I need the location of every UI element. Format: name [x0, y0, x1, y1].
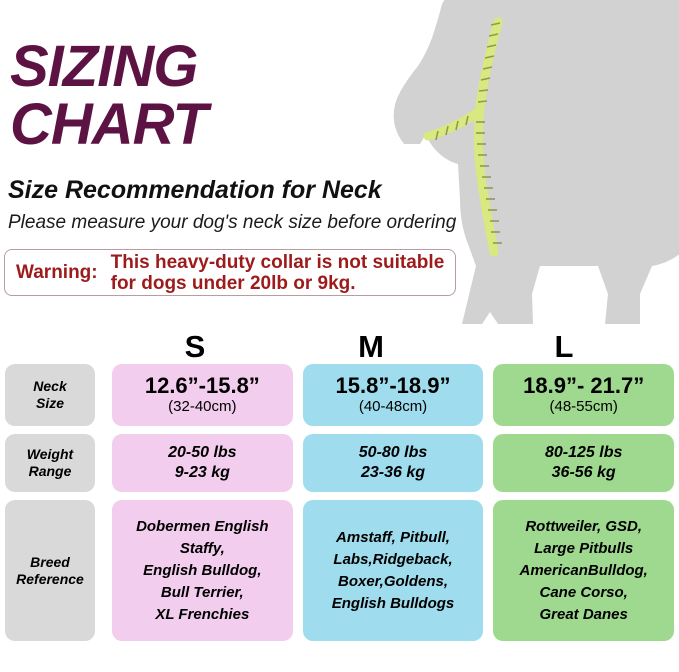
breed-line: Staffy, — [180, 538, 225, 560]
neck-size-cell-l: 18.9”- 21.7” (48-55cm) — [493, 364, 674, 426]
size-header-l: L — [464, 330, 664, 364]
row-label-line-2: Reference — [16, 571, 84, 588]
breed-line: AmericanBulldog, — [520, 560, 648, 582]
table-row: Breed Reference Dobermen English Staffy,… — [0, 500, 679, 641]
page-title: SIZING CHART — [10, 38, 430, 154]
weight-lbs-s: 20-50 lbs — [168, 443, 236, 463]
neck-size-inches-l: 18.9”- 21.7” — [523, 374, 644, 398]
row-label-line-2: Range — [29, 463, 72, 480]
breed-line: Rottweiler, GSD, — [525, 516, 642, 538]
subtitle: Size Recommendation for Neck — [8, 176, 382, 204]
breed-reference-cell-l: Rottweiler, GSD, Large Pitbulls American… — [493, 500, 674, 641]
size-header-s: S — [112, 330, 278, 364]
breed-line: Great Danes — [539, 604, 627, 626]
neck-size-inches-m: 15.8”-18.9” — [336, 374, 451, 398]
title-line-1: SIZING — [10, 38, 430, 96]
breed-line: English Bulldogs — [332, 593, 455, 615]
weight-lbs-l: 80-125 lbs — [545, 443, 622, 463]
breed-line: XL Frenchies — [155, 604, 249, 626]
neck-size-cm-m: (40-48cm) — [359, 398, 427, 416]
title-line-2: CHART — [10, 96, 430, 154]
row-label-line-1: Breed — [30, 554, 70, 571]
instruction-text: Please measure your dog's neck size befo… — [8, 212, 456, 234]
row-label-neck-size: Neck Size — [5, 364, 95, 426]
warning-text-line-1: This heavy-duty collar is not suitable — [111, 252, 445, 273]
breed-line: English Bulldog, — [143, 560, 261, 582]
warning-box: Warning: This heavy-duty collar is not s… — [4, 249, 456, 296]
neck-size-cm-s: (32-40cm) — [168, 398, 236, 416]
weight-range-cell-s: 20-50 lbs 9-23 kg — [112, 434, 293, 492]
neck-size-inches-s: 12.6”-15.8” — [145, 374, 260, 398]
row-label-line-1: Neck — [33, 378, 66, 395]
weight-kg-m: 23-36 kg — [361, 463, 425, 483]
breed-line: Labs,Ridgeback, — [333, 549, 452, 571]
breed-line: Boxer,Goldens, — [338, 571, 448, 593]
warning-text: This heavy-duty collar is not suitable f… — [98, 252, 445, 294]
size-table: S M L Neck Size 12.6”-15.8” (32-40cm) 15… — [0, 330, 679, 649]
weight-range-cell-l: 80-125 lbs 36-56 kg — [493, 434, 674, 492]
breed-line: Cane Corso, — [540, 582, 628, 604]
table-row: Neck Size 12.6”-15.8” (32-40cm) 15.8”-18… — [0, 364, 679, 426]
breed-line: Dobermen English — [136, 516, 269, 538]
breed-line: Bull Terrier, — [161, 582, 244, 604]
size-header-m: M — [288, 330, 454, 364]
table-row: Weight Range 20-50 lbs 9-23 kg 50-80 lbs… — [0, 434, 679, 492]
weight-kg-s: 9-23 kg — [175, 463, 230, 483]
size-header-row: S M L — [0, 330, 679, 364]
row-label-weight-range: Weight Range — [5, 434, 95, 492]
weight-range-cell-m: 50-80 lbs 23-36 kg — [303, 434, 484, 492]
weight-kg-l: 36-56 kg — [552, 463, 616, 483]
row-label-line-1: Weight — [27, 446, 73, 463]
breed-line: Large Pitbulls — [534, 538, 633, 560]
neck-size-cell-s: 12.6”-15.8” (32-40cm) — [112, 364, 293, 426]
warning-label: Warning: — [5, 262, 98, 284]
breed-line: Amstaff, Pitbull, — [336, 527, 450, 549]
neck-size-cell-m: 15.8”-18.9” (40-48cm) — [303, 364, 484, 426]
sizing-chart-page: SIZING CHART Size Recommendation for Nec… — [0, 0, 679, 672]
row-label-breed-reference: Breed Reference — [5, 500, 95, 641]
row-label-line-2: Size — [36, 395, 64, 412]
weight-lbs-m: 50-80 lbs — [359, 443, 427, 463]
breed-reference-cell-s: Dobermen English Staffy, English Bulldog… — [112, 500, 293, 641]
breed-reference-cell-m: Amstaff, Pitbull, Labs,Ridgeback, Boxer,… — [303, 500, 484, 641]
neck-size-cm-l: (48-55cm) — [550, 398, 618, 416]
warning-text-line-2: for dogs under 20lb or 9kg. — [111, 273, 445, 294]
